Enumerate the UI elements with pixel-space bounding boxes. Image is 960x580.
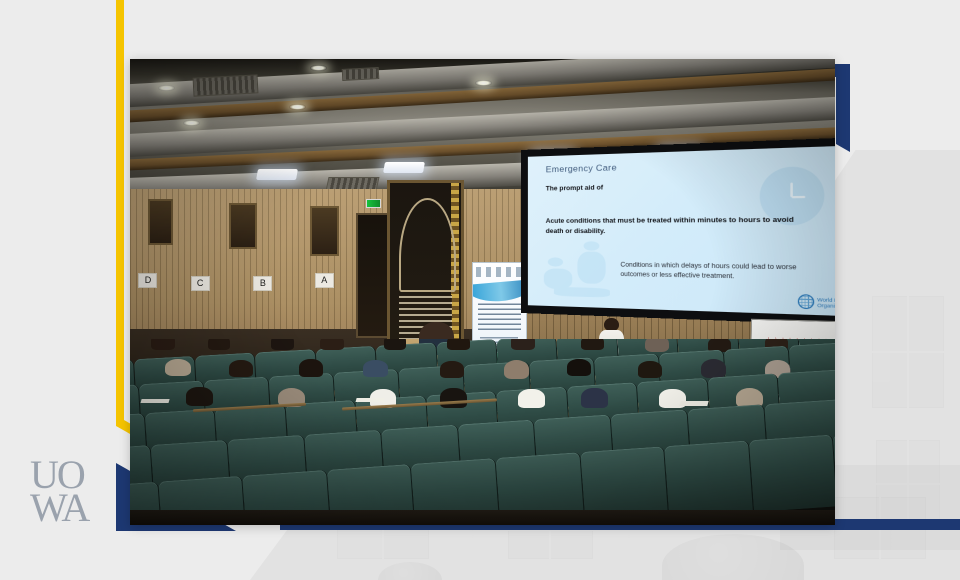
poster-canvas: D C B A [0,0,960,580]
audience-member [638,361,662,378]
audience-member [440,388,467,408]
ceiling-light [475,80,492,86]
ceiling-light [183,120,200,126]
audience-member [271,339,294,350]
audience-member [511,339,535,350]
audience-member [504,360,529,379]
audience-member [363,360,388,377]
audience-member [645,339,669,352]
row-marker: D [138,273,157,288]
exit-sign-icon [366,199,381,208]
audience-member [320,339,344,350]
row-marker: C [191,276,210,291]
audience-member [299,359,323,377]
aisle-floor [130,510,835,525]
ceiling-panel-light [256,169,298,180]
audience-member [384,339,407,350]
audience-seating [130,339,835,525]
ceiling-panel-light [383,162,425,173]
slide-title: Emergency Care [546,162,617,174]
audience-member [581,339,604,350]
audience-member [567,359,591,376]
slide-body-text: Acute conditions that must be treated wi… [546,215,794,237]
row-marker: A [315,273,334,288]
presentation-slide: Emergency Care The prompt aid of Acute c… [528,144,835,316]
slide-subtitle: The prompt aid of [546,184,603,192]
ceiling-light [289,104,306,110]
audience-member [208,339,231,350]
logo-line-2: WA [30,488,88,528]
audience-member [165,359,190,376]
seat [664,440,753,518]
audience-member [701,359,726,378]
audience-member [518,389,545,408]
audience-member [581,388,608,408]
audience-member [151,339,175,350]
who-org-line2: Organization [817,302,835,309]
ceiling-light [310,65,327,71]
slide-note-text: Conditions in which delays of hours coul… [621,262,825,285]
uowa-logo: UO WA [30,455,115,535]
who-logo: World Health Organization [799,295,835,311]
audience-member [229,360,253,377]
audience-member [447,339,470,350]
seat [748,434,835,512]
audience-member [186,387,213,406]
audience-member [440,361,464,378]
projection-screen: Emergency Care The prompt aid of Acute c… [521,136,835,326]
first-aid-illustration [543,237,624,299]
row-marker: B [253,276,272,291]
who-globe-icon [799,295,815,310]
lecture-hall-photo: D C B A [130,59,835,525]
